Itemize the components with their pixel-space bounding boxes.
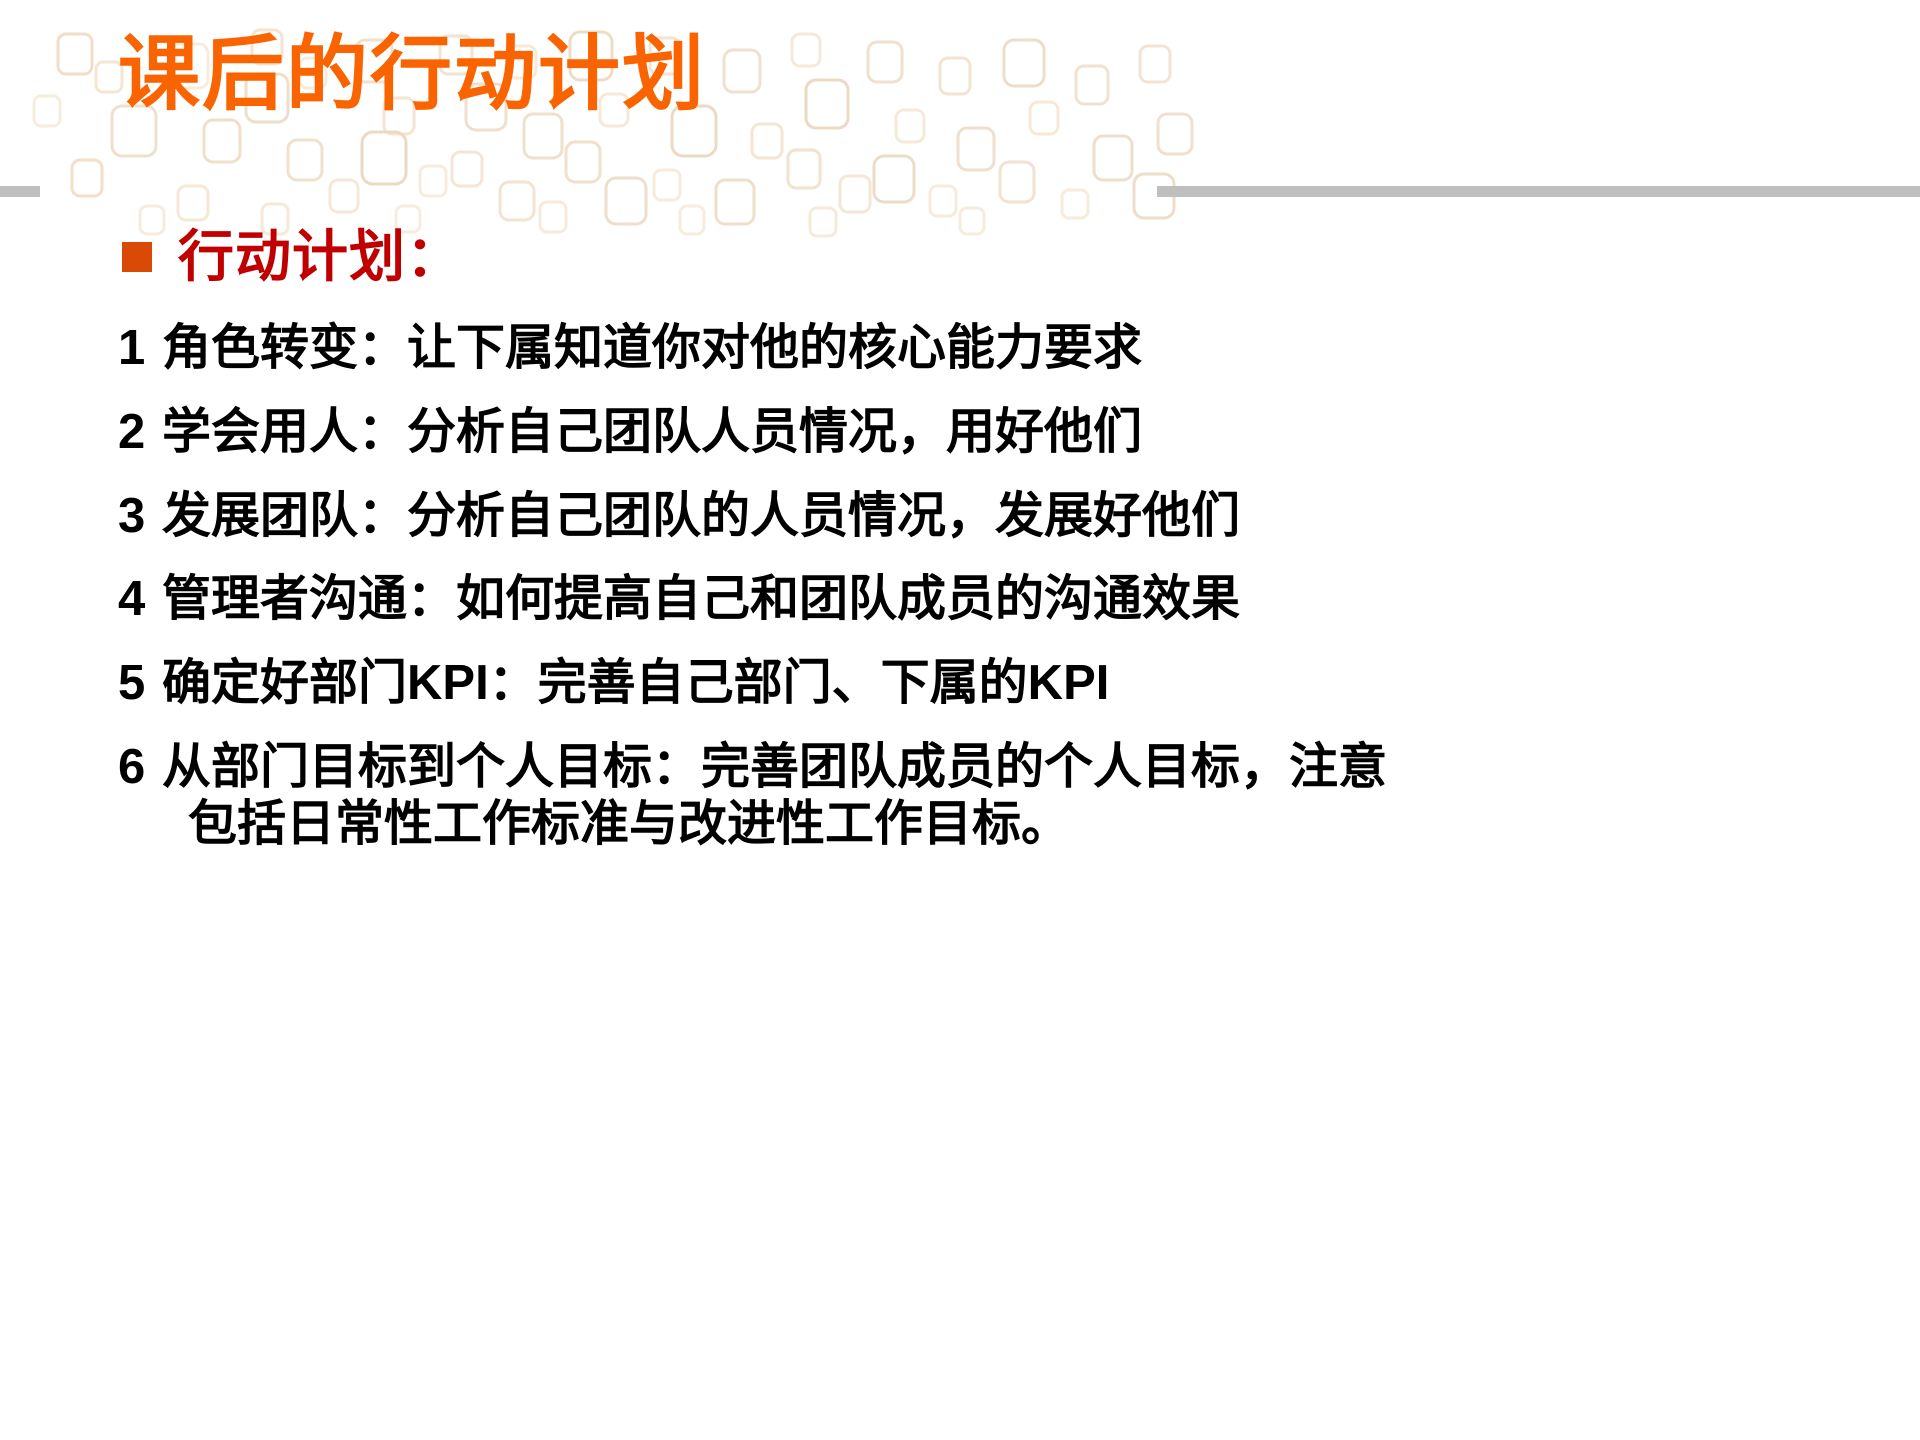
list-item-number: 6: [118, 739, 162, 796]
list-item: 1 角色转变：让下属知道你对他的核心能力要求: [118, 320, 1838, 377]
divider-right-segment: [1157, 186, 1920, 197]
list-item-text: 角色转变：让下属知道你对他的核心能力要求: [162, 320, 1142, 377]
list-item-text: 管理者沟通：如何提高自己和团队成员的沟通效果: [162, 571, 1240, 628]
slide-body: 行动计划： 1 角色转变：让下属知道你对他的核心能力要求 2 学会用人：分析自己…: [0, 200, 1920, 880]
list-item: 5 确定好部门KPI：完善自己部门、下属的KPI: [118, 655, 1838, 712]
list-item-text: 发展团队：分析自己团队的人员情况，发展好他们: [162, 488, 1240, 545]
list-item: 6 从部门目标到个人目标：完善团队成员的个人目标，注意 包括日常性工作标准与改进…: [118, 739, 1838, 853]
section-heading: 行动计划：: [122, 222, 1920, 292]
list-item-text: 从部门目标到个人目标：完善团队成员的个人目标，注意: [162, 740, 1387, 794]
divider-left-segment: [0, 186, 40, 197]
action-plan-list: 1 角色转变：让下属知道你对他的核心能力要求 2 学会用人：分析自己团队人员情况…: [118, 320, 1838, 853]
list-item-number: 3: [118, 488, 162, 545]
list-item-number: 1: [118, 320, 162, 377]
slide: 课后的行动计划 行动计划： 1 角色转变：让下属知道你对他的核心能力要求 2 学…: [0, 0, 1920, 1440]
list-item-number: 5: [118, 655, 162, 712]
list-item-text: 确定好部门KPI：完善自己部门、下属的KPI: [162, 655, 1109, 712]
list-item-text-continued: 包括日常性工作标准与改进性工作目标。: [162, 796, 1387, 853]
section-heading-label: 行动计划：: [178, 229, 463, 285]
square-bullet-icon: [122, 242, 152, 272]
list-item: 4 管理者沟通：如何提高自己和团队成员的沟通效果: [118, 571, 1838, 628]
list-item-number: 4: [118, 571, 162, 628]
list-item: 3 发展团队：分析自己团队的人员情况，发展好他们: [118, 488, 1838, 545]
list-item-text: 学会用人：分析自己团队人员情况，用好他们: [162, 404, 1142, 461]
list-item: 2 学会用人：分析自己团队人员情况，用好他们: [118, 404, 1838, 461]
list-item-number: 2: [118, 404, 162, 461]
page-title: 课后的行动计划: [118, 32, 706, 118]
list-item-text-group: 从部门目标到个人目标：完善团队成员的个人目标，注意 包括日常性工作标准与改进性工…: [162, 739, 1387, 853]
footer: BEIJING C-PLATFORM DIGITAL SERVICE CO.,L…: [0, 1300, 1920, 1440]
